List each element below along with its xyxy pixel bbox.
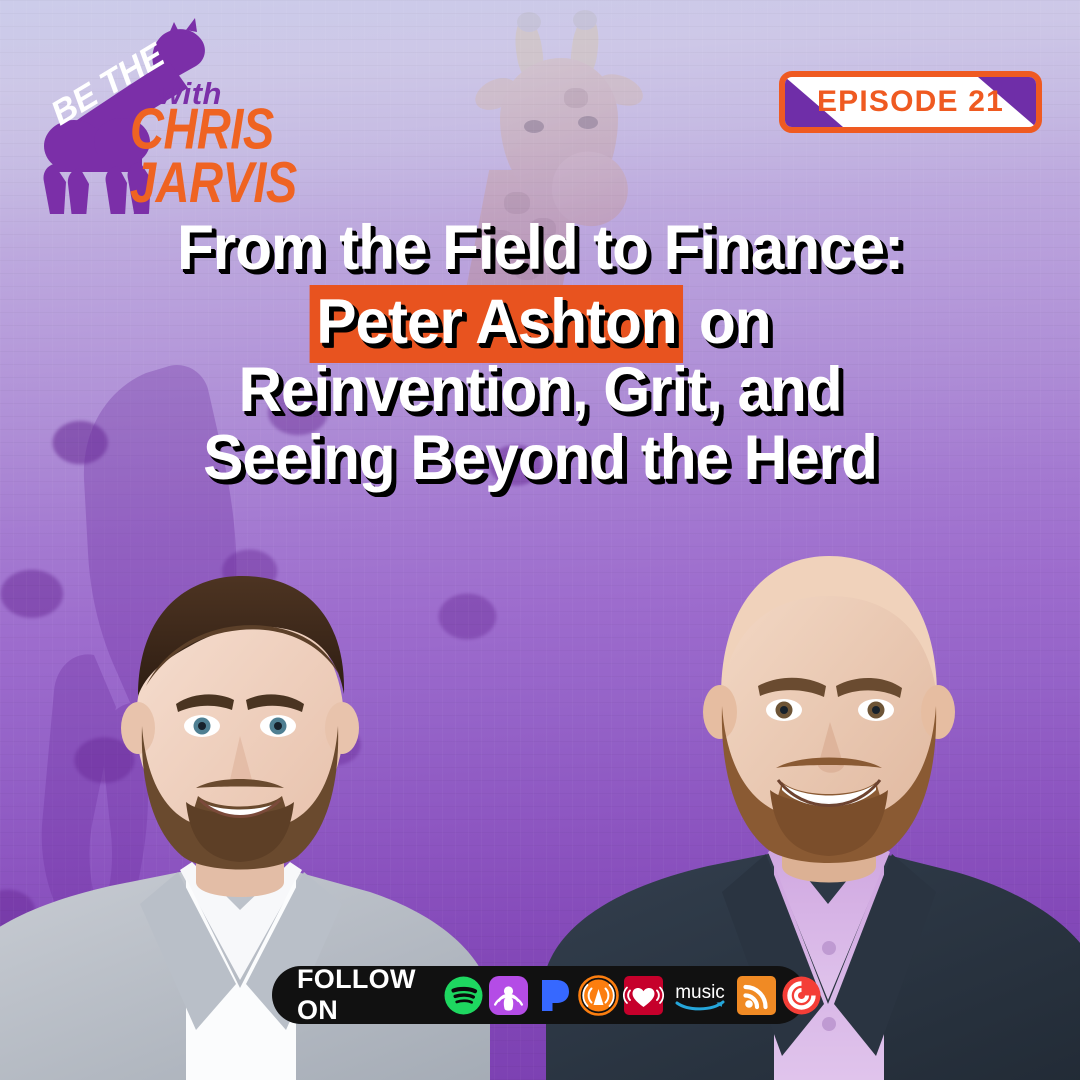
podcast-logo[interactable]: BE THE with CHRIS JARVIS <box>18 14 278 214</box>
logo-host-firstname: CHRIS <box>130 102 297 155</box>
episode-title: From the Field to Finance: Peter Ashton … <box>0 214 1080 492</box>
episode-graphic: BE THE with CHRIS JARVIS EPISODE 21 From… <box>0 0 1080 1080</box>
title-line-1: From the Field to Finance: <box>22 214 1059 282</box>
logo-host-lastname: JARVIS <box>130 155 297 208</box>
follow-on-label: FOLLOW ON <box>272 964 432 1026</box>
platform-icon-list: music <box>432 975 822 1016</box>
overcast-icon[interactable] <box>578 975 619 1016</box>
title-line-2-rest: on <box>683 287 770 357</box>
rss-icon[interactable] <box>736 975 777 1016</box>
pandora-icon[interactable] <box>533 975 574 1016</box>
title-line-4: Seeing Beyond the Herd <box>22 424 1059 492</box>
amazon-music-icon[interactable]: music <box>668 975 732 1016</box>
title-highlight: Peter Ashton <box>309 285 683 363</box>
episode-badge: EPISODE 21 <box>779 71 1042 133</box>
logo-host-name: CHRIS JARVIS <box>130 102 297 209</box>
svg-text:music: music <box>675 982 725 1003</box>
pocket-casts-icon[interactable] <box>781 975 822 1016</box>
episode-badge-label: EPISODE 21 <box>785 77 1036 127</box>
iheartradio-icon[interactable] <box>623 975 664 1016</box>
follow-on-bar[interactable]: FOLLOW ON <box>272 966 806 1024</box>
apple-podcasts-icon[interactable] <box>488 975 529 1016</box>
title-line-2: Peter Ashton on <box>22 288 1059 356</box>
title-line-3: Reinvention, Grit, and <box>22 356 1059 424</box>
spotify-icon[interactable] <box>443 975 484 1016</box>
